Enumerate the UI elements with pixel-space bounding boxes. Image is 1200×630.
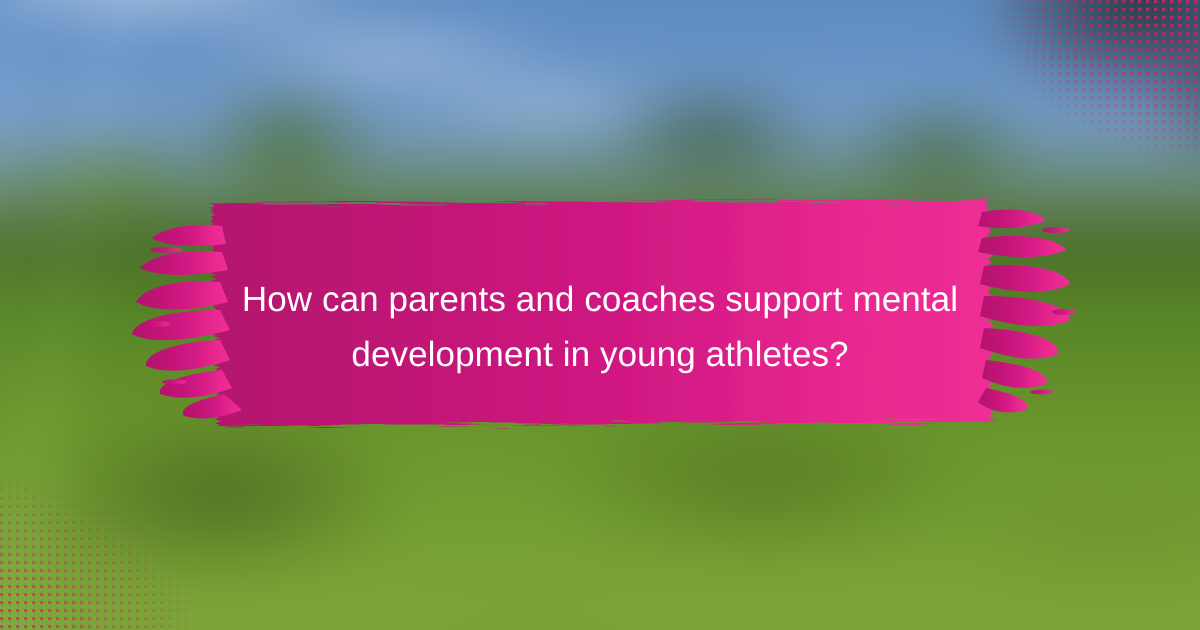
social-share-card: How can parents and coaches support ment… [0,0,1200,630]
page-title: How can parents and coaches support ment… [150,272,1050,383]
